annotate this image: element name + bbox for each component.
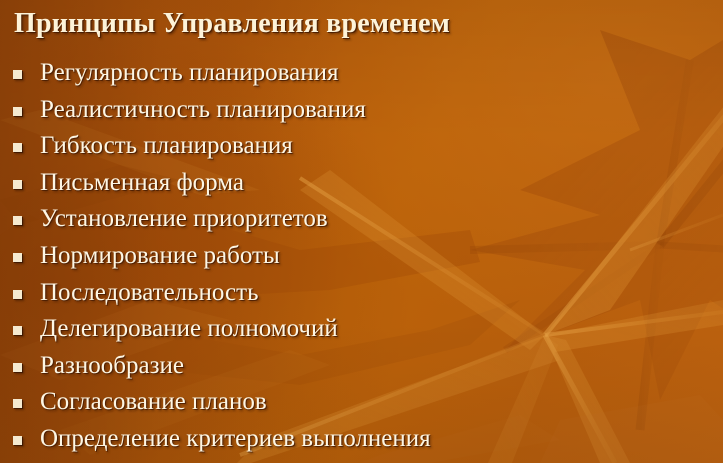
square-bullet-icon	[13, 326, 22, 335]
bullet-list-item[interactable]: Регулярность планирования	[0, 55, 723, 92]
square-bullet-icon	[13, 107, 22, 116]
bullet-list-item[interactable]: Гибкость планирования	[0, 128, 723, 165]
bullet-item-label: Реалистичность планирования	[40, 96, 366, 123]
bullet-item-label: Регулярность планирования	[40, 59, 339, 86]
bullet-item-label: Делегирование полномочий	[40, 315, 338, 342]
bullet-list-item[interactable]: Делегирование полномочий	[0, 311, 723, 348]
bullet-item-label: Разнообразие	[40, 352, 184, 379]
slide-content: Принципы Управления временем Регулярност…	[0, 0, 723, 463]
square-bullet-icon	[13, 436, 22, 445]
bullet-list-item[interactable]: Установление приоритетов	[0, 201, 723, 238]
square-bullet-icon	[13, 363, 22, 372]
bullet-item-label: Письменная форма	[40, 169, 244, 196]
bullet-item-label: Последовательность	[40, 279, 258, 306]
bullet-item-label: Согласование планов	[40, 388, 267, 415]
bullet-list-item[interactable]: Письменная форма	[0, 165, 723, 202]
bullet-list-item[interactable]: Последовательность	[0, 275, 723, 312]
square-bullet-icon	[13, 253, 22, 262]
square-bullet-icon	[13, 180, 22, 189]
bullet-list: Регулярность планированияРеалистичность …	[0, 55, 723, 458]
square-bullet-icon	[13, 70, 22, 79]
bullet-item-label: Установление приоритетов	[40, 205, 328, 232]
bullet-list-item[interactable]: Реалистичность планирования	[0, 92, 723, 129]
square-bullet-icon	[13, 216, 22, 225]
square-bullet-icon	[13, 290, 22, 299]
bullet-list-item[interactable]: Нормирование работы	[0, 238, 723, 275]
square-bullet-icon	[13, 143, 22, 152]
slide-title: Принципы Управления временем	[14, 8, 450, 40]
presentation-slide: Принципы Управления временем Регулярност…	[0, 0, 723, 463]
bullet-item-label: Нормирование работы	[40, 242, 280, 269]
square-bullet-icon	[13, 399, 22, 408]
bullet-list-item[interactable]: Согласование планов	[0, 384, 723, 421]
bullet-list-item[interactable]: Определение критериев выполнения	[0, 421, 723, 458]
bullet-list-item[interactable]: Разнообразие	[0, 348, 723, 385]
bullet-item-label: Гибкость планирования	[40, 132, 293, 159]
bullet-item-label: Определение критериев выполнения	[40, 425, 431, 452]
